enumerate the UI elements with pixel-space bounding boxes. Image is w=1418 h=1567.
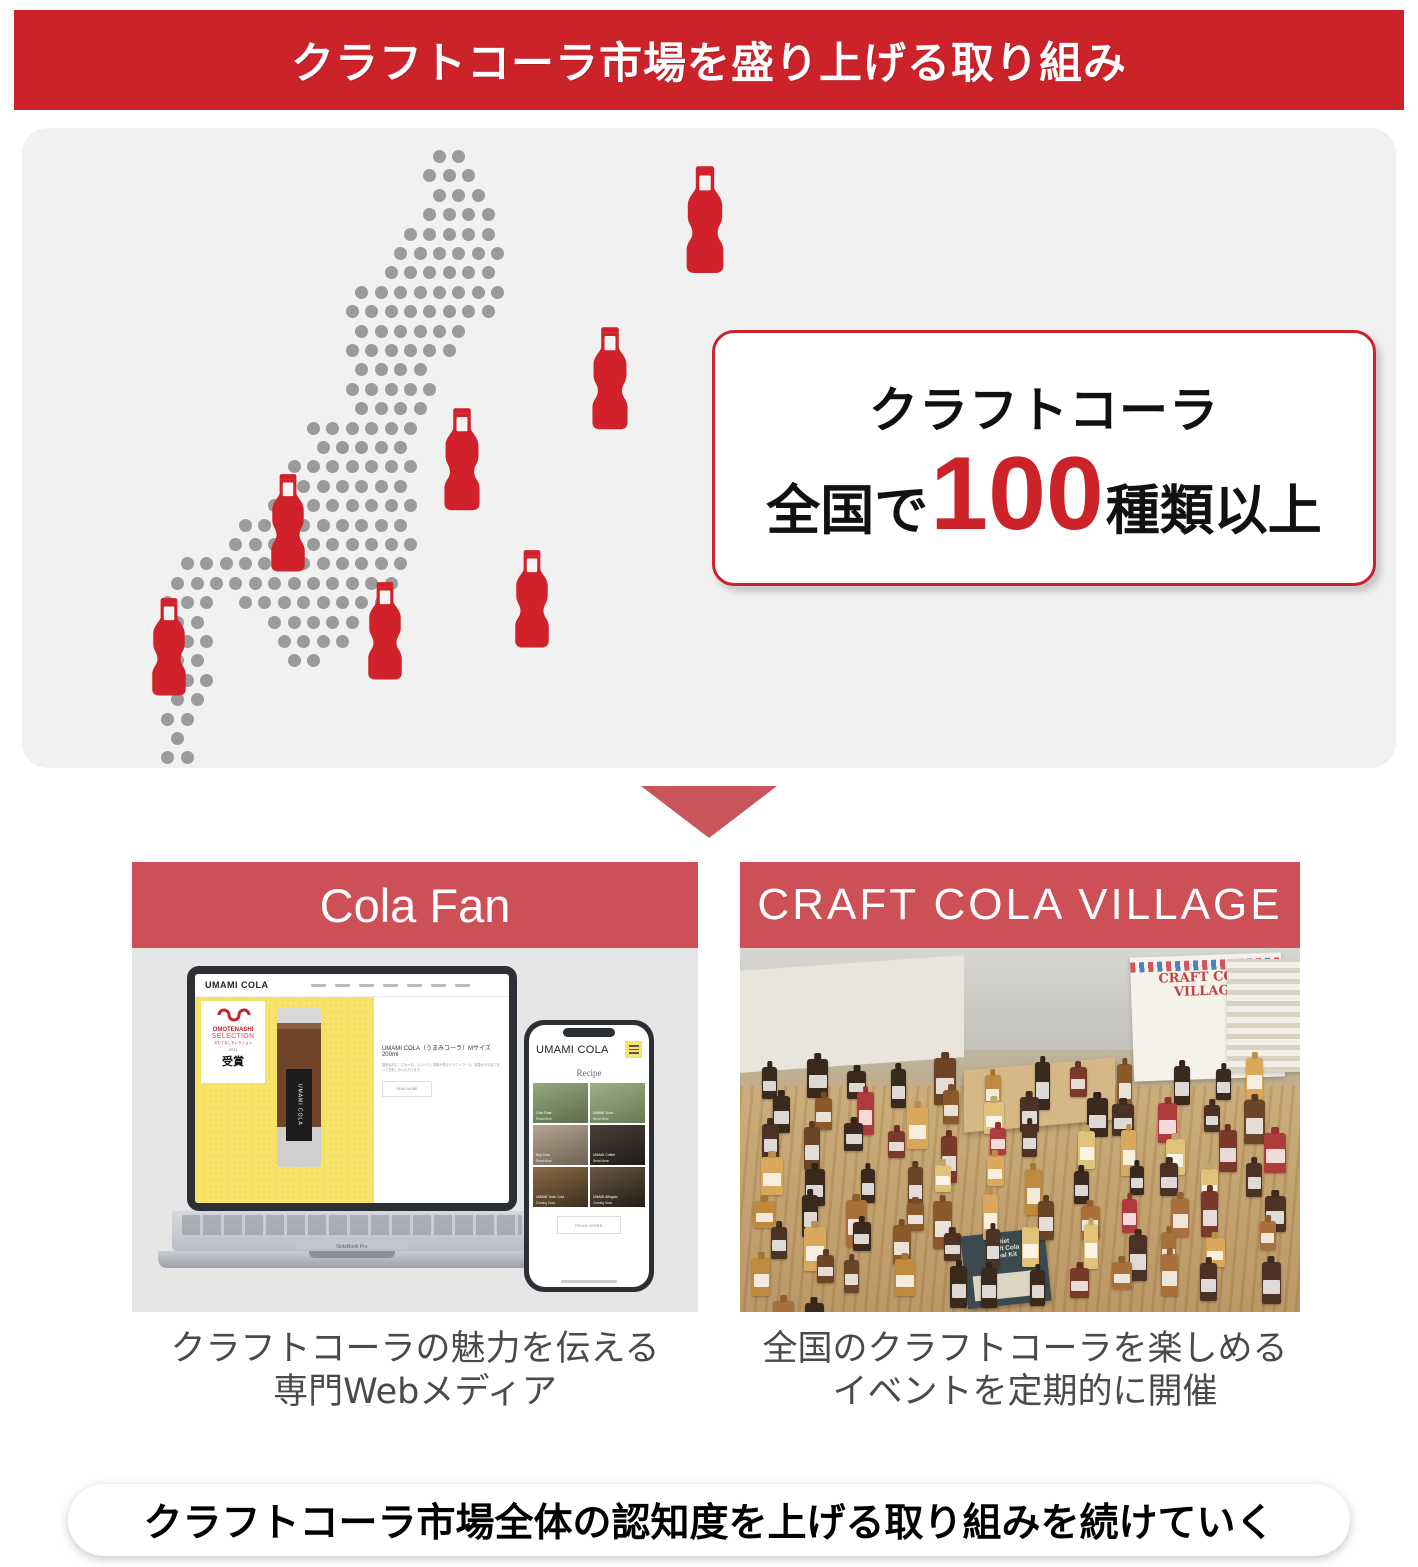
map-dot: [452, 247, 465, 260]
map-dot: [307, 422, 320, 435]
map-dot: [307, 577, 320, 590]
map-dot: [414, 286, 427, 299]
recipe-tile-title: UMAMI Tonic Cola: [536, 1195, 564, 1199]
cola-bottle-icon: [511, 548, 553, 650]
cola-bottle-photo: [761, 1157, 783, 1195]
cola-bottle-photo: [1112, 1262, 1132, 1289]
cola-bottle-photo: [944, 1233, 962, 1261]
recipe-tile[interactable]: UMAMI Coffee Read More: [590, 1125, 645, 1165]
card-header-craft-cola-village: CRAFT COLA VILLAGE: [740, 862, 1300, 948]
map-dot: [385, 538, 398, 551]
map-dot: [423, 208, 436, 221]
hamburger-line: [629, 1052, 639, 1053]
map-dot: [346, 460, 359, 473]
caption-craft-cola-village: 全国のクラフトコーラを楽しめる イベントを定期的に開催: [710, 1328, 1340, 1413]
laptop-base: [158, 1251, 546, 1268]
map-dot: [414, 247, 427, 260]
map-dot: [171, 732, 184, 745]
callout-number: 100: [930, 448, 1104, 542]
cola-bottle-photo: [1160, 1163, 1178, 1196]
map-dot: [346, 344, 359, 357]
phone-site-logo: UMAMI COLA: [536, 1044, 609, 1056]
nav-link[interactable]: [335, 984, 350, 987]
recipe-tile-title: Soy Cola: [536, 1153, 550, 1157]
cola-bottle-photo: [1219, 1130, 1237, 1171]
map-dot: [394, 480, 407, 493]
cola-bottle-photo: [853, 1222, 871, 1251]
hamburger-line: [629, 1045, 639, 1046]
photo-tablecloth: [740, 955, 964, 1073]
caption-line-1: クラフトコーラの魅力を伝える: [100, 1328, 730, 1371]
cola-bottle-photo: [943, 1090, 960, 1124]
map-dot: [423, 228, 436, 241]
map-dot: [394, 557, 407, 570]
map-dot: [443, 208, 456, 221]
recipe-tile-subtitle: Read More: [593, 1159, 609, 1163]
phone-read-more-button[interactable]: READ MORE: [557, 1216, 621, 1234]
map-dot: [452, 189, 465, 202]
map-dot: [375, 519, 388, 532]
map-dot: [161, 713, 174, 726]
card-body-photo: CRAFT COLA VILLAGE Diet Craft Cola Meal …: [740, 948, 1300, 1312]
map-dot: [326, 460, 339, 473]
award-year: 2021: [229, 1047, 238, 1052]
map-dot: [346, 422, 359, 435]
map-dot: [365, 344, 378, 357]
map-dot: [375, 325, 388, 338]
map-dot: [317, 480, 330, 493]
map-dot: [326, 422, 339, 435]
cola-bottle-photo: [950, 1266, 967, 1308]
map-dot: [326, 577, 339, 590]
map-dot: [200, 674, 213, 687]
recipe-tile-subtitle: Read More: [536, 1159, 552, 1163]
cola-bottle-photo: [1262, 1262, 1282, 1305]
map-dot: [326, 499, 339, 512]
map-dot: [433, 189, 446, 202]
map-dot: [191, 616, 204, 629]
map-dot: [414, 363, 427, 376]
map-dot: [394, 363, 407, 376]
map-dot: [375, 363, 388, 376]
map-dot: [346, 305, 359, 318]
map-dot: [385, 305, 398, 318]
map-dot: [385, 499, 398, 512]
map-dot: [443, 344, 456, 357]
recipe-tile-title: UMAMI Soda: [593, 1111, 613, 1115]
map-dot: [200, 635, 213, 648]
map-dot: [404, 422, 417, 435]
map-dot: [365, 383, 378, 396]
map-dot: [404, 344, 417, 357]
map-dot: [414, 325, 427, 338]
map-dot: [482, 228, 495, 241]
map-dot: [404, 228, 417, 241]
recipe-tile[interactable]: UMAMI Tonic Cola Coming Soon: [533, 1167, 588, 1207]
phone-mockup: UMAMI COLA Recipe Cola Float Read MoreUM…: [524, 1020, 654, 1292]
map-dot: [443, 169, 456, 182]
laptop-brand-label: NoteBook Pro: [336, 1244, 367, 1250]
cola-bottle-photo: [895, 1259, 916, 1295]
map-dot: [355, 480, 368, 493]
cola-bottle-icon: [148, 596, 190, 698]
map-dot: [423, 266, 436, 279]
hamburger-menu-icon[interactable]: [625, 1041, 642, 1058]
callout-suffix: 種類以上: [1106, 466, 1322, 545]
map-dot: [307, 616, 320, 629]
map-dot: [355, 363, 368, 376]
map-dot: [404, 538, 417, 551]
map-dot: [375, 286, 388, 299]
card-header-cola-fan: Cola Fan: [132, 862, 698, 948]
laptop-base-notch: [309, 1251, 395, 1258]
map-dot: [394, 402, 407, 415]
map-dot: [385, 460, 398, 473]
map-dot: [210, 577, 223, 590]
map-dot: [288, 616, 301, 629]
map-dot: [472, 247, 485, 260]
map-dot: [423, 383, 436, 396]
cola-bottle-photo: [1246, 1163, 1262, 1198]
map-dot: [472, 189, 485, 202]
map-dot: [355, 441, 368, 454]
cola-bottle-photo: [1084, 1224, 1098, 1269]
map-dot: [385, 344, 398, 357]
recipe-tile-subtitle: Read More: [536, 1117, 552, 1121]
map-dot: [414, 402, 427, 415]
product-heading: UMAMI COLA（うまみコーラ）Mサイズ 200ml: [382, 1043, 501, 1058]
map-dot: [404, 460, 417, 473]
map-dot: [355, 402, 368, 415]
cola-bottle-photo: [773, 1301, 794, 1312]
map-dot: [394, 519, 407, 532]
award-title-2: SELECTION: [212, 1033, 255, 1040]
map-dot: [181, 751, 194, 764]
callout-stat-line: 全国で 100 種類以上: [766, 448, 1322, 545]
map-dot: [317, 519, 330, 532]
map-dot: [404, 305, 417, 318]
map-dot: [346, 499, 359, 512]
map-dot: [462, 169, 475, 182]
map-dot: [365, 460, 378, 473]
map-dot: [220, 557, 233, 570]
product-read-more-button[interactable]: READ MORE: [382, 1081, 432, 1097]
map-dot: [491, 247, 504, 260]
laptop-keys: [182, 1215, 522, 1235]
caption-line-2: イベントを定期的に開催: [710, 1371, 1340, 1414]
map-dot: [355, 286, 368, 299]
map-dot: [462, 208, 475, 221]
cola-bottle-photo: [844, 1123, 863, 1151]
phone-recipe-grid: Cola Float Read MoreUMAMI Soda Read More…: [529, 1083, 649, 1207]
recipe-tile-title: UMAMI Affogato: [593, 1195, 618, 1199]
map-dot: [181, 713, 194, 726]
hero-product-info: UMAMI COLA（うまみコーラ）Mサイズ 200ml 国産素材にこだわった、…: [374, 997, 509, 1203]
card-body-mockups: UMAMI COLA: [132, 948, 698, 1312]
cola-bottle-photo: [1030, 1270, 1045, 1307]
map-dot: [249, 538, 262, 551]
cola-bottle-photo: [1078, 1131, 1095, 1169]
map-dot: [288, 577, 301, 590]
map-dot: [191, 693, 204, 706]
card-title: Cola Fan: [320, 878, 511, 933]
map-dot: [385, 266, 398, 279]
cola-bottle-photo: [817, 1255, 834, 1283]
map-dot: [346, 383, 359, 396]
recipe-tile-subtitle: Coming Soon: [593, 1201, 612, 1205]
cola-bottle-photo: [888, 1131, 905, 1157]
map-dot: [191, 654, 204, 667]
cola-bottle-photo: [1070, 1067, 1087, 1096]
cola-bottle-photo: [762, 1067, 777, 1098]
recipe-tile-subtitle: Coming Soon: [536, 1201, 555, 1205]
hamburger-line: [629, 1049, 639, 1050]
map-dot: [355, 519, 368, 532]
phone-home-indicator: [561, 1280, 617, 1283]
website-hero: OMOTENASHI SELECTION おもてなしセレクション 2021 受賞…: [195, 997, 509, 1203]
map-dot: [336, 441, 349, 454]
nav-link[interactable]: [455, 984, 470, 987]
map-dot: [268, 616, 281, 629]
recipe-tile[interactable]: Cola Float Read More: [533, 1083, 588, 1123]
cola-bottle-photo: [771, 1227, 787, 1258]
callout-prefix: 全国で: [766, 466, 928, 545]
map-dot: [452, 286, 465, 299]
map-dot: [433, 286, 446, 299]
laptop-mockup: UMAMI COLA: [187, 966, 517, 1268]
recipe-tile[interactable]: UMAMI Soda Read More: [590, 1083, 645, 1123]
map-dot: [317, 635, 330, 648]
cola-bottle-icon: [682, 164, 728, 275]
map-dot: [375, 557, 388, 570]
map-dot: [394, 441, 407, 454]
bottle-label: UMAMI COLA: [286, 1069, 312, 1141]
page-header-banner: クラフトコーラ市場を盛り上げる取り組み: [14, 10, 1404, 110]
map-dot: [482, 208, 495, 221]
nav-link[interactable]: [383, 984, 398, 987]
caption-cola-fan: クラフトコーラの魅力を伝える 専門Webメディア: [100, 1328, 730, 1413]
map-dot: [278, 635, 291, 648]
map-dot: [375, 441, 388, 454]
product-description: 国産素材にこだわった、スパイスと柑橘が香るクラフトコーラ。炭酸水や牛乳で割ってお…: [382, 1063, 501, 1073]
card-title: CRAFT COLA VILLAGE: [757, 880, 1282, 930]
callout-heading: クラフトコーラ: [869, 371, 1219, 442]
map-dot: [200, 596, 213, 609]
phone-notch: [563, 1028, 615, 1037]
map-dot: [239, 557, 252, 570]
map-dot: [336, 635, 349, 648]
map-dot: [385, 383, 398, 396]
cola-bottle-photo: [805, 1303, 825, 1312]
cola-bottle-photo: [1022, 1227, 1039, 1268]
map-dot: [191, 577, 204, 590]
map-dot: [171, 577, 184, 590]
nav-link[interactable]: [407, 984, 422, 987]
map-dot: [229, 577, 242, 590]
map-dot: [258, 596, 271, 609]
map-dot: [365, 305, 378, 318]
map-dot: [394, 247, 407, 260]
recipe-tile-subtitle: Read More: [593, 1117, 609, 1121]
cola-bottle-photo: [754, 1201, 775, 1228]
map-dot: [443, 228, 456, 241]
page-title: クラフトコーラ市場を盛り上げる取り組み: [291, 29, 1127, 91]
website-nav-links[interactable]: [311, 984, 470, 987]
map-dot: [462, 305, 475, 318]
cola-bottle-photo: [1204, 1105, 1219, 1132]
map-dot: [482, 266, 495, 279]
nav-link[interactable]: [311, 984, 326, 987]
map-dot: [317, 596, 330, 609]
card-cola-fan[interactable]: Cola Fan UMAMI COLA: [132, 862, 698, 1312]
nav-link[interactable]: [431, 984, 446, 987]
laptop-lid: UMAMI COLA: [187, 966, 517, 1211]
map-dot: [365, 499, 378, 512]
map-dot: [336, 557, 349, 570]
map-dot: [385, 422, 398, 435]
cola-bottle-photo: [1174, 1066, 1190, 1105]
map-dot: [375, 402, 388, 415]
map-dot: [346, 538, 359, 551]
map-dot: [346, 577, 359, 590]
map-dot: [462, 228, 475, 241]
map-dot: [249, 577, 262, 590]
event-photo: CRAFT COLA VILLAGE Diet Craft Cola Meal …: [740, 948, 1300, 1312]
award-subtitle: おもてなしセレクション: [214, 1041, 252, 1046]
down-arrow-icon: [641, 786, 777, 838]
map-dot: [462, 266, 475, 279]
map-dot: [443, 305, 456, 318]
map-dot: [394, 286, 407, 299]
map-dot: [268, 577, 281, 590]
cola-bottle-photo: [981, 1268, 997, 1308]
map-dot: [346, 616, 359, 629]
map-dot: [161, 751, 174, 764]
laptop-keyboard-deck: NoteBook Pro: [172, 1211, 532, 1251]
map-dot: [443, 266, 456, 279]
phone-screen: UMAMI COLA Recipe Cola Float Read MoreUM…: [529, 1025, 649, 1287]
laptop-screen: UMAMI COLA: [195, 974, 509, 1203]
map-dot: [404, 266, 417, 279]
map-dot: [423, 169, 436, 182]
map-dot: [181, 557, 194, 570]
map-dot: [326, 616, 339, 629]
map-dot: [355, 557, 368, 570]
map-dot: [491, 286, 504, 299]
map-dot: [452, 150, 465, 163]
recipe-tile-title: Cola Float: [536, 1111, 551, 1115]
map-dot: [433, 325, 446, 338]
event-poster-secondary: [1227, 959, 1300, 1072]
map-dot: [433, 247, 446, 260]
cola-bottle-photo: [861, 1169, 875, 1203]
cola-bottle-icon: [440, 406, 484, 512]
award-badge: OMOTENASHI SELECTION おもてなしセレクション 2021 受賞: [201, 1001, 265, 1083]
omotenashi-logo-icon: [213, 1005, 253, 1025]
map-dot: [355, 325, 368, 338]
map-dot: [433, 150, 446, 163]
cola-bottle-icon: [267, 472, 309, 574]
cola-bottle-photo: [1070, 1268, 1090, 1298]
map-dot: [317, 441, 330, 454]
cola-bottle-photo: [1260, 1221, 1276, 1250]
card-craft-cola-village[interactable]: CRAFT COLA VILLAGE CRAFT COLA VILLAGE Di…: [740, 862, 1300, 1312]
cola-bottle-photo: [1264, 1133, 1286, 1173]
japan-map-panel: クラフトコーラ 全国で 100 種類以上: [22, 128, 1396, 768]
nav-link[interactable]: [359, 984, 374, 987]
map-dot: [336, 519, 349, 532]
map-dot: [307, 654, 320, 667]
map-dot: [297, 635, 310, 648]
footer-text: クラフトコーラ市場全体の認知度を上げる取り組みを続けていく: [143, 1492, 1274, 1548]
map-dot: [297, 596, 310, 609]
cola-bottle-photo: [1244, 1100, 1265, 1145]
map-dot: [326, 538, 339, 551]
cola-bottle-photo: [1201, 1191, 1218, 1237]
footer-statement-pill: クラフトコーラ市場全体の認知度を上げる取り組みを続けていく: [68, 1484, 1350, 1556]
cola-bottle-icon: [364, 580, 406, 682]
cola-bottle-photo: [891, 1069, 906, 1107]
caption-line-2: 専門Webメディア: [100, 1371, 730, 1414]
map-dot: [365, 422, 378, 435]
product-bottle-image: UMAMI COLA: [277, 1007, 321, 1167]
map-dot: [452, 325, 465, 338]
caption-line-1: 全国のクラフトコーラを楽しめる: [710, 1328, 1340, 1371]
hero-product-photo: OMOTENASHI SELECTION おもてなしセレクション 2021 受賞…: [195, 997, 374, 1203]
phone-section-title: Recipe: [529, 1068, 649, 1078]
map-dot: [336, 596, 349, 609]
map-dot: [423, 344, 436, 357]
map-dot: [365, 538, 378, 551]
recipe-tile-title: UMAMI Coffee: [593, 1153, 615, 1157]
cola-bottle-photo: [1022, 1124, 1037, 1157]
stat-callout-box: クラフトコーラ 全国で 100 種類以上: [712, 330, 1376, 586]
map-dot: [404, 383, 417, 396]
map-dot: [394, 325, 407, 338]
cola-bottle-photo: [1161, 1254, 1179, 1296]
recipe-tile[interactable]: UMAMI Affogato Coming Soon: [590, 1167, 645, 1207]
map-dot: [229, 538, 242, 551]
cola-bottle-photo: [1200, 1263, 1218, 1301]
cola-bottle-photo: [1038, 1201, 1054, 1240]
cola-bottle-icon: [588, 325, 632, 431]
map-dot: [278, 596, 291, 609]
cola-bottle-photo: [815, 1098, 833, 1130]
cola-bottle-photo: [844, 1260, 859, 1293]
map-dot: [317, 557, 330, 570]
map-dot: [239, 519, 252, 532]
map-dot: [288, 654, 301, 667]
map-dot: [375, 480, 388, 493]
cola-bottle-photo: [907, 1107, 928, 1149]
cola-bottle-photo: [987, 1156, 1004, 1186]
award-prize: 受賞: [222, 1053, 244, 1069]
map-dot: [239, 596, 252, 609]
map-dot: [336, 480, 349, 493]
map-dot: [423, 305, 436, 318]
cola-bottle-photo: [1216, 1069, 1231, 1100]
recipe-tile[interactable]: Soy Cola Read More: [533, 1125, 588, 1165]
map-dot: [472, 286, 485, 299]
map-dot: [404, 499, 417, 512]
website-navbar: UMAMI COLA: [195, 974, 509, 997]
map-dot: [200, 557, 213, 570]
website-logo: UMAMI COLA: [205, 980, 269, 990]
cola-bottle-photo: [1130, 1166, 1145, 1196]
cola-bottle-photo: [752, 1258, 770, 1296]
cola-bottle-photo: [935, 1165, 952, 1191]
map-dot: [482, 305, 495, 318]
